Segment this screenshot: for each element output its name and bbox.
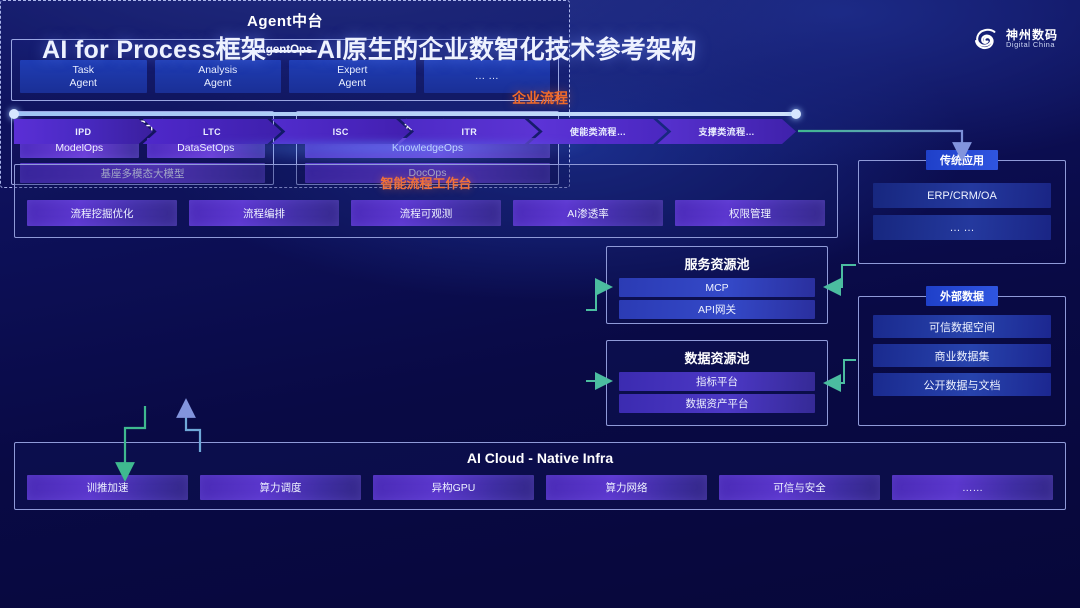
ai-cloud-native-infra-panel: AI Cloud - Native Infra 训推加速算力调度异构GPU算力网…: [14, 442, 1066, 510]
rail-knob-right: [791, 109, 801, 119]
data-pool-item-1[interactable]: 数据资产平台: [619, 394, 815, 413]
digital-china-swirl-icon: [973, 26, 999, 52]
legacy-apps-list: ERP/CRM/OA… …: [859, 161, 1065, 240]
external-data-panel: 外部数据 可信数据空间商业数据集公开数据与文档: [858, 296, 1066, 426]
slide-root: AI for Process框架——AI原生的企业数智化技术参考架构 神州数码 …: [0, 0, 1080, 608]
wire-agent-to-service-pool: [586, 287, 604, 310]
infra-chip-3[interactable]: 算力网络: [546, 475, 707, 500]
service-pool-item-1[interactable]: API网关: [619, 300, 815, 319]
external-data-item-1[interactable]: 商业数据集: [873, 344, 1051, 367]
legacy-app-item-0[interactable]: ERP/CRM/OA: [873, 183, 1051, 208]
workbench-title: 智能流程工作台: [15, 173, 837, 192]
process-flow-title: 企业流程: [0, 88, 1080, 108]
workbench-chip-1[interactable]: 流程编排: [189, 200, 339, 226]
external-data-item-0[interactable]: 可信数据空间: [873, 315, 1051, 338]
legacy-applications-panel: 传统应用 ERP/CRM/OA… …: [858, 160, 1066, 264]
process-step-3[interactable]: ITR: [400, 119, 539, 144]
process-step-label-2: ISC: [333, 127, 349, 137]
workbench-chip-3[interactable]: AI渗透率: [513, 200, 663, 226]
page-title: AI for Process框架——AI原生的企业数智化技术参考架构: [42, 30, 697, 66]
intelligent-process-workbench-panel: 智能流程工作台 流程挖掘优化流程编排流程可观测AI渗透率权限管理: [14, 164, 838, 238]
legacy-app-item-1[interactable]: … …: [873, 215, 1051, 240]
process-flow-steps: IPDLTCISCITR使能类流程…支撑类流程…: [14, 119, 796, 144]
data-pool-title: 数据资源池: [607, 348, 827, 367]
process-step-0[interactable]: IPD: [14, 119, 153, 144]
service-pool-item-0[interactable]: MCP: [619, 278, 815, 297]
process-step-label-5: 支撑类流程…: [698, 125, 754, 138]
wire-flow-to-legacy-apps: [798, 131, 962, 152]
process-step-label-0: IPD: [75, 127, 91, 137]
service-resource-pool-panel: 服务资源池 MCPAPI网关: [606, 246, 828, 324]
service-pool-title: 服务资源池: [607, 254, 827, 273]
infra-chip-0[interactable]: 训推加速: [27, 475, 188, 500]
data-resource-pool-panel: 数据资源池 指标平台数据资产平台: [606, 340, 828, 426]
process-flow-rail: [14, 112, 796, 116]
service-pool-list: MCPAPI网关: [607, 273, 827, 319]
process-step-2[interactable]: ISC: [271, 119, 410, 144]
external-data-badge: 外部数据: [926, 286, 998, 306]
brand-logo: 神州数码 Digital China: [973, 26, 1058, 52]
wire-external-data-to-data-pool: [832, 360, 856, 383]
process-step-label-3: ITR: [462, 127, 478, 137]
infra-item-row: 训推加速算力调度异构GPU算力网络可信与安全……: [15, 466, 1065, 500]
rail-knob-left: [9, 109, 19, 119]
workbench-item-row: 流程挖掘优化流程编排流程可观测AI渗透率权限管理: [15, 192, 837, 226]
process-step-4[interactable]: 使能类流程…: [529, 119, 668, 144]
legacy-apps-badge: 传统应用: [926, 150, 998, 170]
infra-chip-1[interactable]: 算力调度: [200, 475, 361, 500]
external-data-list: 可信数据空间商业数据集公开数据与文档: [859, 297, 1065, 396]
logo-text-en: Digital China: [1006, 41, 1058, 49]
process-step-label-1: LTC: [203, 127, 221, 137]
workbench-chip-4[interactable]: 权限管理: [675, 200, 825, 226]
workbench-chip-2[interactable]: 流程可观测: [351, 200, 501, 226]
wire-legacy-to-service-pool: [832, 265, 856, 287]
process-step-label-4: 使能类流程…: [570, 125, 626, 138]
data-pool-item-0[interactable]: 指标平台: [619, 372, 815, 391]
external-data-item-2[interactable]: 公开数据与文档: [873, 373, 1051, 396]
data-pool-list: 指标平台数据资产平台: [607, 367, 827, 413]
infra-title: AI Cloud - Native Infra: [15, 450, 1065, 466]
agent-platform-title: Agent中台: [1, 10, 569, 31]
process-step-5[interactable]: 支撑类流程…: [657, 119, 796, 144]
infra-chip-5[interactable]: ……: [892, 475, 1053, 500]
infra-chip-4[interactable]: 可信与安全: [719, 475, 880, 500]
process-step-1[interactable]: LTC: [143, 119, 282, 144]
agentops-cell-line1-3: … …: [475, 70, 499, 83]
infra-chip-2[interactable]: 异构GPU: [373, 475, 534, 500]
workbench-chip-0[interactable]: 流程挖掘优化: [27, 200, 177, 226]
